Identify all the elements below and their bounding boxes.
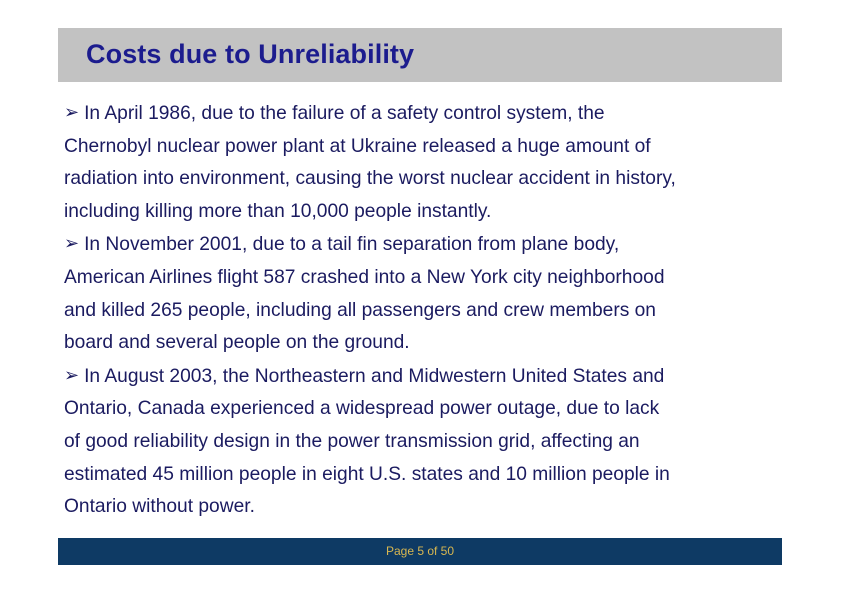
bullet-arrow-icon: ➢ [64, 227, 84, 260]
bullet-2-line-4: board and several people on the ground. [64, 327, 782, 360]
bullet-2-line-3: and killed 265 people, including all pas… [64, 295, 782, 328]
title-band: Costs due to Unreliability [58, 28, 782, 82]
bullet-3-line-3: of good reliability design in the power … [64, 426, 782, 459]
slide-canvas: Costs due to Unreliability ➢In April 198… [0, 0, 842, 595]
slide-body: ➢In April 1986, due to the failure of a … [64, 97, 782, 524]
page-title: Costs due to Unreliability [86, 36, 414, 72]
page-number-label: Page 5 of 50 [58, 538, 782, 565]
bullet-3-line-1: In August 2003, the Northeastern and Mid… [84, 366, 664, 387]
bullet-paragraph-2: ➢In November 2001, due to a tail fin sep… [64, 228, 782, 359]
bullet-3-line-2: Ontario, Canada experienced a widespread… [64, 393, 782, 426]
bullet-paragraph-1: ➢In April 1986, due to the failure of a … [64, 97, 782, 228]
bullet-2-line-2: American Airlines flight 587 crashed int… [64, 262, 782, 295]
bullet-arrow-icon: ➢ [64, 96, 84, 129]
footer-bar: Page 5 of 50 [58, 538, 782, 565]
bullet-1-line-2: Chernobyl nuclear power plant at Ukraine… [64, 131, 782, 164]
bullet-paragraph-3: ➢In August 2003, the Northeastern and Mi… [64, 360, 782, 524]
bullet-3-line-4: estimated 45 million people in eight U.S… [64, 459, 782, 492]
bullet-1-line-3: radiation into environment, causing the … [64, 163, 782, 196]
bullet-3-line-5: Ontario without power. [64, 491, 782, 524]
bullet-2-line-1: In November 2001, due to a tail fin sepa… [84, 234, 619, 255]
bullet-1-line-1: In April 1986, due to the failure of a s… [84, 103, 605, 124]
bullet-1-line-4: including killing more than 10,000 peopl… [64, 196, 782, 229]
bullet-arrow-icon: ➢ [64, 359, 84, 392]
